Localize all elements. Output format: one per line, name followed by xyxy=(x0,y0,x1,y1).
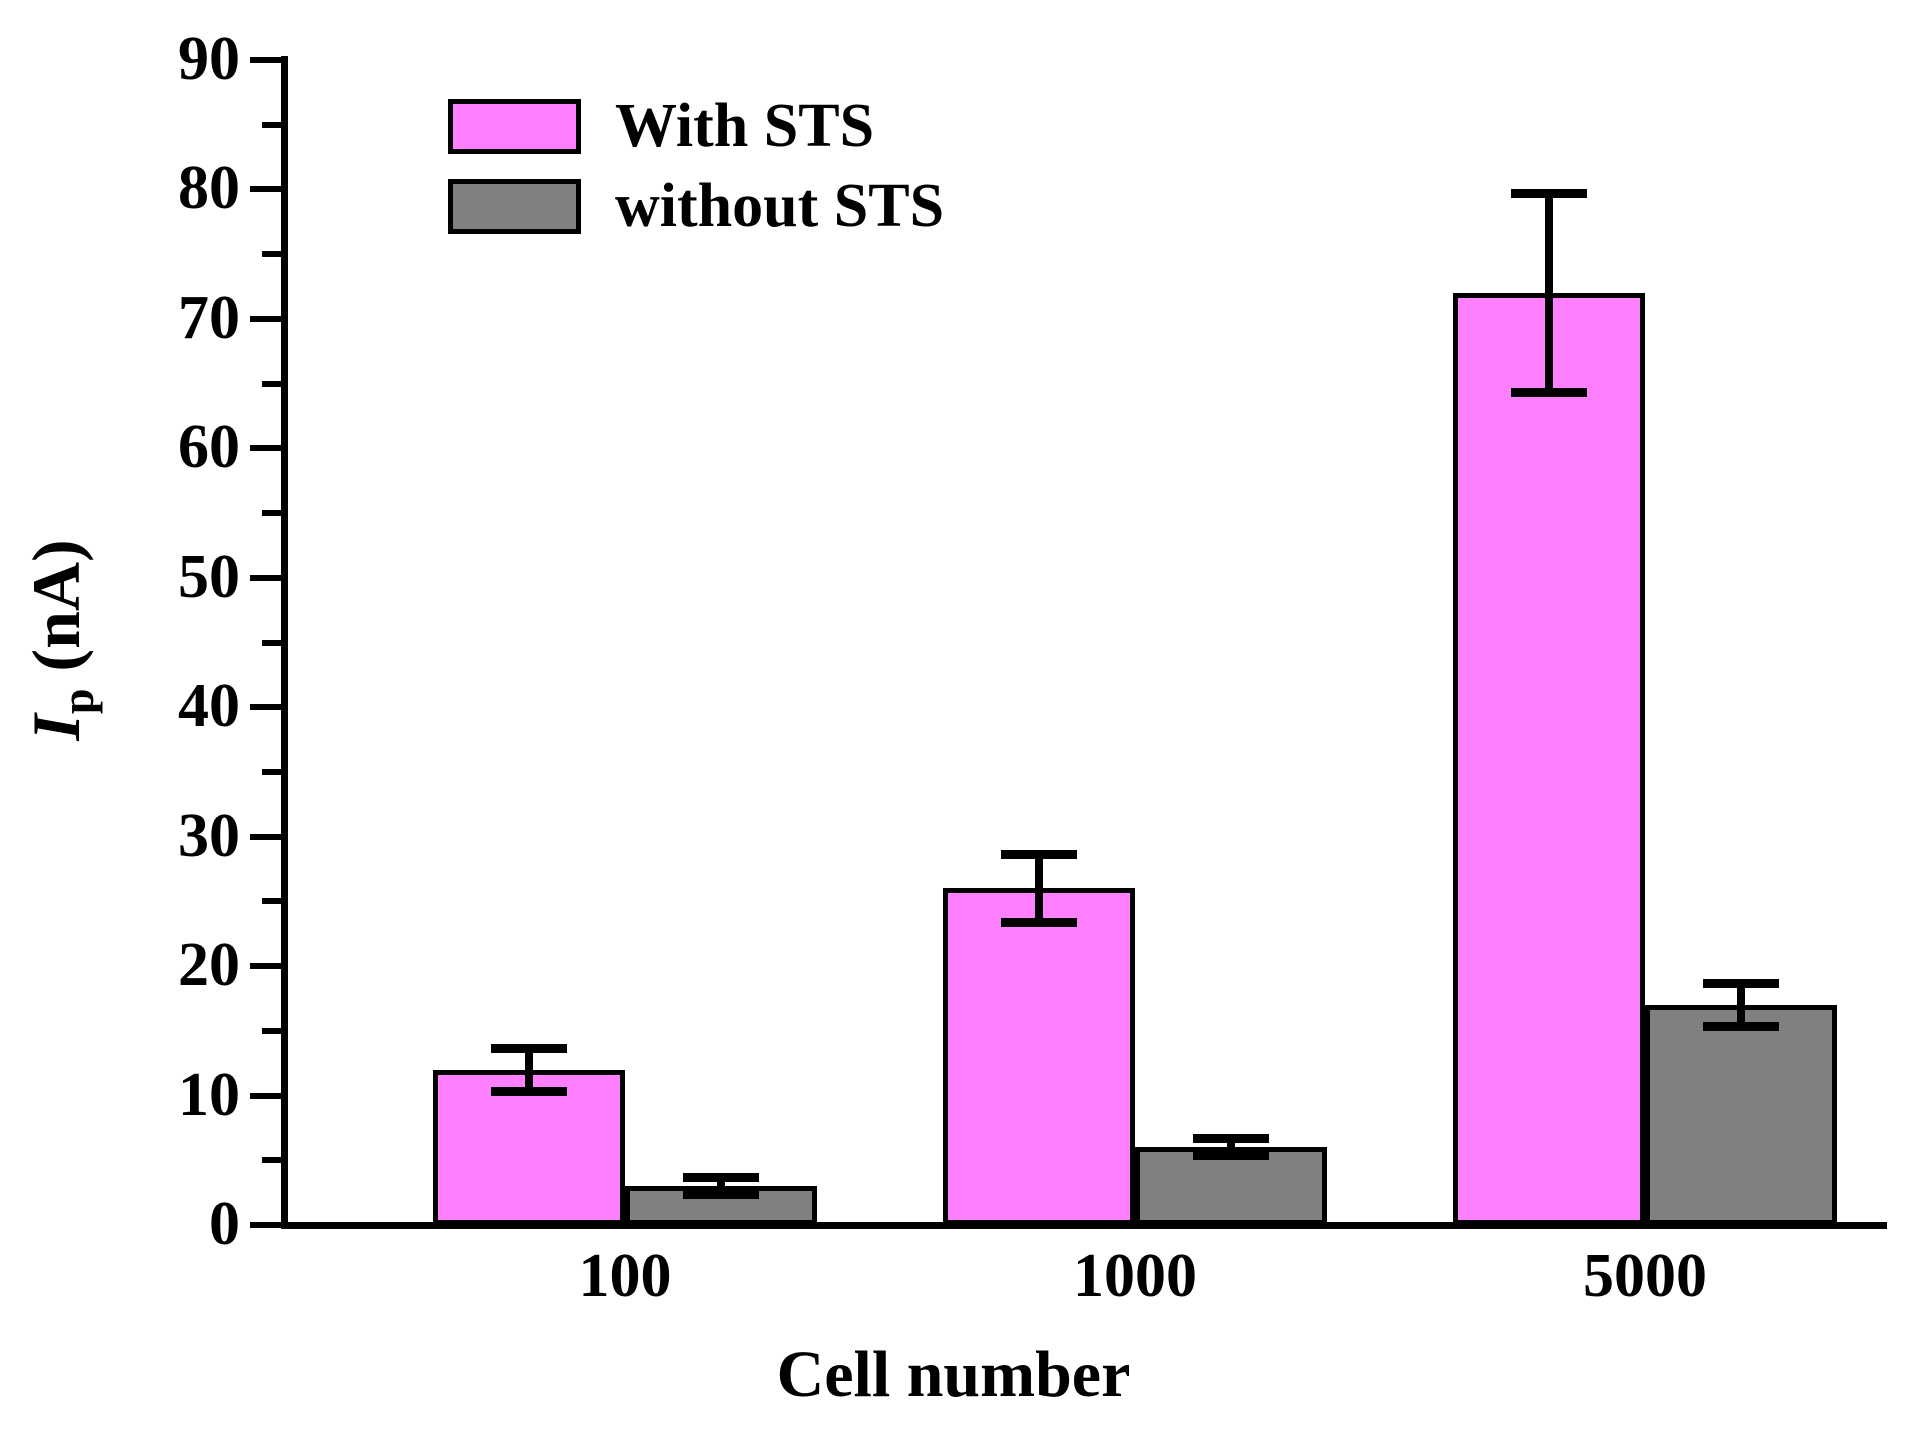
error-bar-cap-top xyxy=(1001,850,1077,859)
error-bar-cap-top xyxy=(1193,1134,1269,1143)
bar-5000-with-sts xyxy=(1453,293,1645,1225)
error-bar-stem xyxy=(1545,189,1553,396)
y-tick-label: 80 xyxy=(10,157,240,219)
y-tick-label: 70 xyxy=(10,287,240,349)
error-bar-cap-bottom xyxy=(1703,1022,1779,1031)
x-axis-title: Cell number xyxy=(0,1340,1907,1410)
y-tick-label: 50 xyxy=(10,546,240,608)
error-bar-cap-bottom xyxy=(1001,918,1077,927)
y-tick-label: 40 xyxy=(10,675,240,737)
y-tick-minor xyxy=(262,1028,281,1034)
error-bar-cap-top xyxy=(1703,979,1779,988)
error-bar-cap-top xyxy=(1511,189,1587,198)
y-tick-minor xyxy=(262,769,281,775)
y-tick-major xyxy=(250,963,281,969)
legend-item-with-sts[interactable]: With STS xyxy=(448,95,944,157)
y-tick-major xyxy=(250,575,281,581)
error-bar-1000-without-sts xyxy=(1171,1134,1291,1160)
error-bar-5000-without-sts xyxy=(1681,979,1801,1031)
y-tick-major xyxy=(250,316,281,322)
error-bar-cap-bottom xyxy=(1193,1151,1269,1160)
y-tick-major xyxy=(250,445,281,451)
y-tick-label: 20 xyxy=(10,934,240,996)
y-tick-minor xyxy=(262,898,281,904)
error-bar-stem xyxy=(1035,850,1043,928)
error-bar-cap-bottom xyxy=(683,1190,759,1199)
error-bar-100-without-sts xyxy=(661,1173,781,1199)
error-bar-100-with-sts xyxy=(469,1044,589,1096)
error-bar-cap-bottom xyxy=(1511,388,1587,397)
y-tick-major xyxy=(250,1222,281,1228)
y-tick-label: 30 xyxy=(10,805,240,867)
legend-label-without-sts: without STS xyxy=(615,175,944,237)
x-tick-label-5000: 5000 xyxy=(1445,1245,1845,1307)
y-tick-minor xyxy=(262,122,281,128)
bar-chart-figure: Ip (nA) 0102030405060708090 10010005000 … xyxy=(0,0,1907,1436)
y-tick-major xyxy=(250,1093,281,1099)
y-tick-minor xyxy=(262,1157,281,1163)
y-tick-major xyxy=(250,704,281,710)
error-bar-cap-bottom xyxy=(491,1087,567,1096)
error-bar-cap-top xyxy=(491,1044,567,1053)
y-tick-minor xyxy=(262,381,281,387)
error-bar-5000-with-sts xyxy=(1489,189,1609,396)
x-tick-label-100: 100 xyxy=(425,1245,825,1307)
y-tick-minor xyxy=(262,510,281,516)
legend-swatch-without-sts xyxy=(448,179,581,234)
y-tick-label: 90 xyxy=(10,28,240,90)
error-bar-cap-top xyxy=(683,1173,759,1182)
y-tick-label: 60 xyxy=(10,416,240,478)
y-tick-minor xyxy=(262,251,281,257)
legend-item-without-sts[interactable]: without STS xyxy=(448,175,944,237)
y-tick-major xyxy=(250,834,281,840)
legend-swatch-with-sts xyxy=(448,99,581,154)
y-tick-major xyxy=(250,57,281,63)
y-tick-minor xyxy=(262,640,281,646)
legend-label-with-sts: With STS xyxy=(615,95,874,157)
bar-5000-without-sts xyxy=(1645,1005,1837,1225)
x-tick-label-1000: 1000 xyxy=(935,1245,1335,1307)
bar-1000-with-sts xyxy=(943,888,1135,1225)
y-tick-major xyxy=(250,186,281,192)
error-bar-1000-with-sts xyxy=(979,850,1099,928)
y-tick-label: 0 xyxy=(10,1193,240,1255)
y-tick-label: 10 xyxy=(10,1064,240,1126)
legend: With STS without STS xyxy=(448,95,944,255)
